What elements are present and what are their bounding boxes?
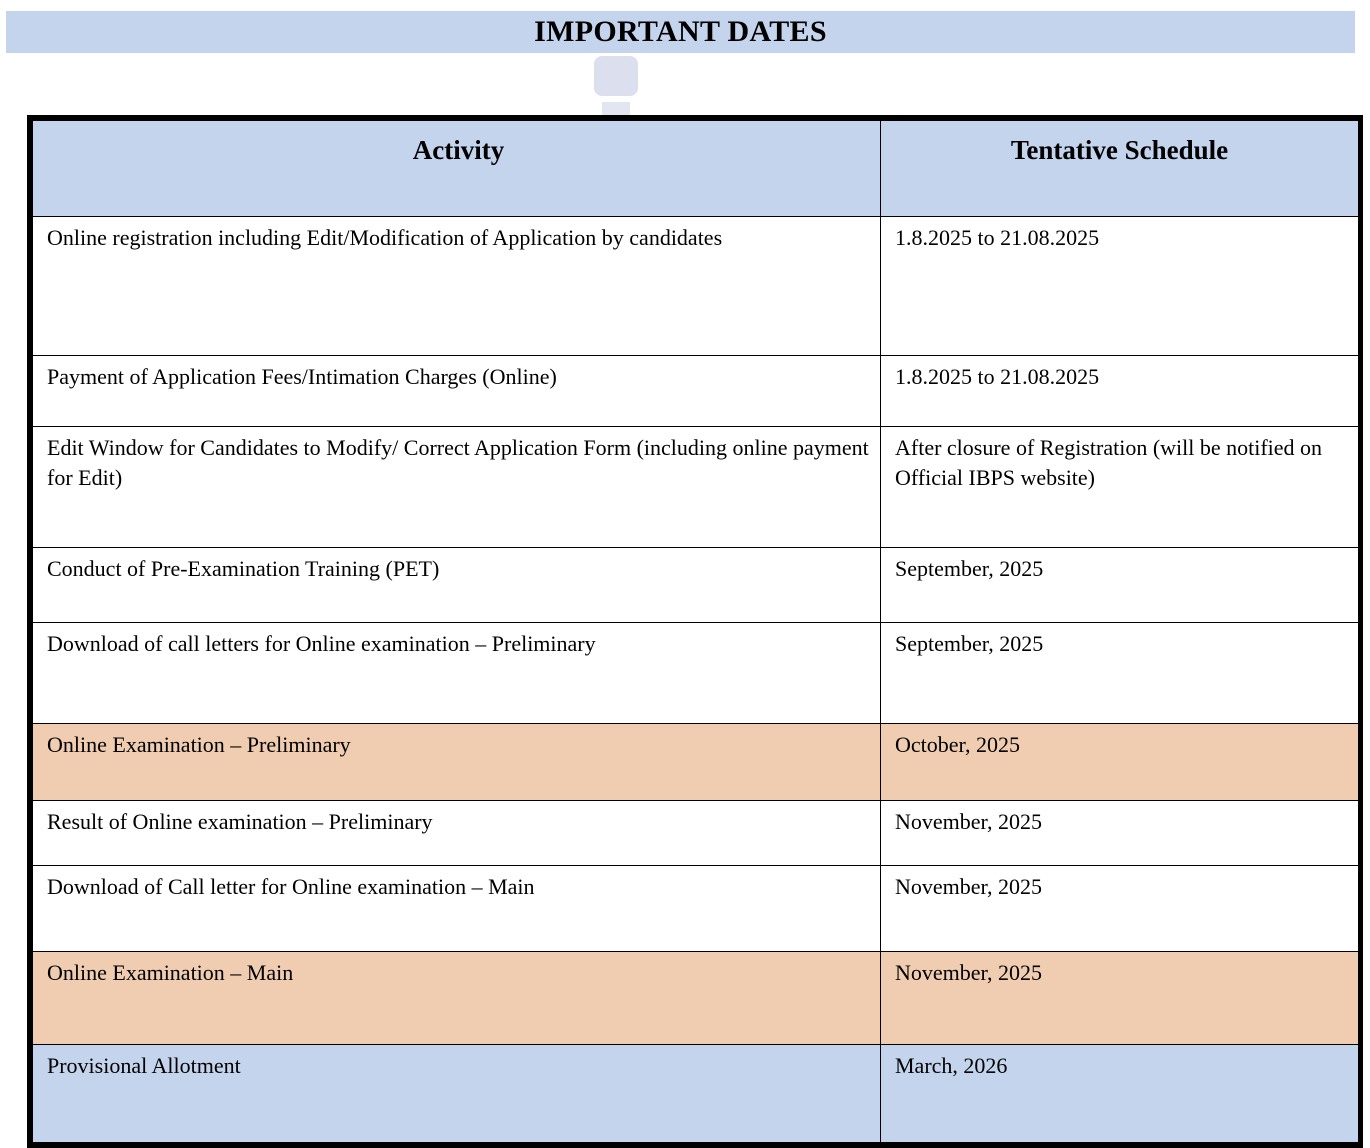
important-dates-table: Activity Tentative Schedule Online regis… [32,120,1359,1143]
cell-activity: Provisional Allotment [33,1045,881,1143]
table-row: Online Examination – PreliminaryOctober,… [33,724,1359,801]
cell-tentative-schedule: November, 2025 [881,866,1359,952]
cell-tentative-schedule: November, 2025 [881,801,1359,866]
table-row: Download of call letters for Online exam… [33,623,1359,724]
page-title-banner: IMPORTANT DATES [6,11,1355,53]
cell-tentative-schedule: September, 2025 [881,623,1359,724]
cell-activity: Payment of Application Fees/Intimation C… [33,356,881,427]
table-row: Conduct of Pre-Examination Training (PET… [33,548,1359,623]
table-body: Online registration including Edit/Modif… [33,217,1359,1143]
column-header-tentative-schedule: Tentative Schedule [881,121,1359,217]
cell-tentative-schedule: September, 2025 [881,548,1359,623]
table-header-row: Activity Tentative Schedule [33,121,1359,217]
table-row: Result of Online examination – Prelimina… [33,801,1359,866]
table-row: Edit Window for Candidates to Modify/ Co… [33,427,1359,548]
column-header-activity: Activity [33,121,881,217]
cell-activity: Conduct of Pre-Examination Training (PET… [33,548,881,623]
cell-tentative-schedule: 1.8.2025 to 21.08.2025 [881,356,1359,427]
cell-tentative-schedule: March, 2026 [881,1045,1359,1143]
cell-tentative-schedule: 1.8.2025 to 21.08.2025 [881,217,1359,356]
table-row: Provisional AllotmentMarch, 2026 [33,1045,1359,1143]
cell-activity: Result of Online examination – Prelimina… [33,801,881,866]
cell-tentative-schedule: November, 2025 [881,952,1359,1045]
cell-activity: Download of call letters for Online exam… [33,623,881,724]
cell-activity: Download of Call letter for Online exami… [33,866,881,952]
cell-tentative-schedule: After closure of Registration (will be n… [881,427,1359,548]
cell-activity: Edit Window for Candidates to Modify/ Co… [33,427,881,548]
table-row: Online Examination – MainNovember, 2025 [33,952,1359,1045]
cell-activity: Online registration including Edit/Modif… [33,217,881,356]
cell-activity: Online Examination – Main [33,952,881,1045]
important-dates-table-container: Activity Tentative Schedule Online regis… [27,115,1363,1148]
table-row: Payment of Application Fees/Intimation C… [33,356,1359,427]
cell-tentative-schedule: October, 2025 [881,724,1359,801]
page-title: IMPORTANT DATES [534,17,827,47]
table-row: Download of Call letter for Online exami… [33,866,1359,952]
cell-activity: Online Examination – Preliminary [33,724,881,801]
table-row: Online registration including Edit/Modif… [33,217,1359,356]
